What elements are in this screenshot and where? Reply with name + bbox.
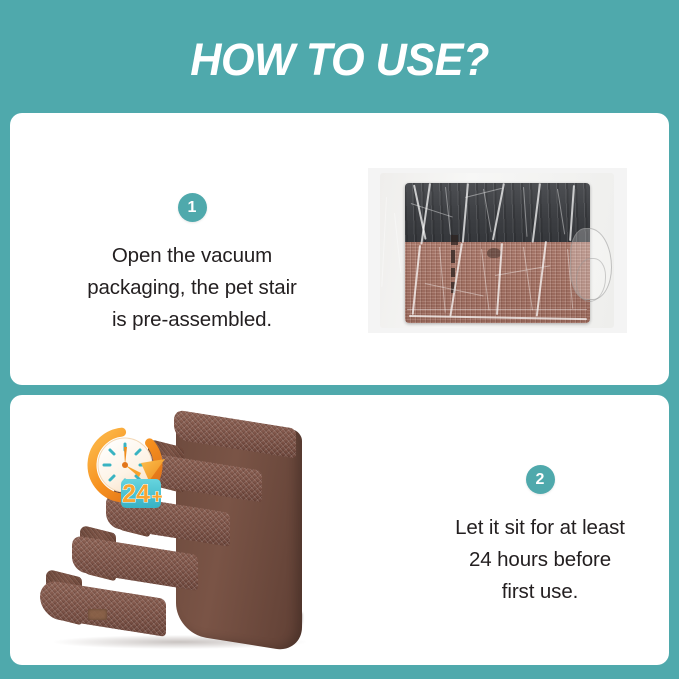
print-mark xyxy=(487,248,501,258)
how-to-use-infographic: HOW TO USE? 1 Open the vacuum packaging,… xyxy=(0,0,679,679)
header-banner: HOW TO USE? xyxy=(0,0,679,113)
step-2-text-block: 2 Let it sit for at least 24 hours befor… xyxy=(390,465,669,607)
step-2-number-badge: 2 xyxy=(526,465,555,494)
print-mark xyxy=(451,268,455,277)
page-title: HOW TO USE? xyxy=(190,37,489,82)
clock-badge-text: 24 xyxy=(122,480,150,508)
24-hours-clock-icon: 24 + xyxy=(83,423,175,515)
step-1-caption: Open the vacuum packaging, the pet stair… xyxy=(87,240,297,335)
clock-badge-plus: + xyxy=(151,487,162,508)
seam-mark xyxy=(451,235,458,245)
stair-tread-1 xyxy=(40,579,166,637)
compressed-pet-stair: ♻ xyxy=(405,183,590,323)
step-1-panel: 1 Open the vacuum packaging, the pet sta… xyxy=(10,113,669,385)
step-1-text-block: 1 Open the vacuum packaging, the pet sta… xyxy=(42,193,342,335)
print-mark xyxy=(451,250,455,263)
step-1-number-badge: 1 xyxy=(178,193,207,222)
vacuum-packaging-photo: ♻ xyxy=(368,168,627,333)
step-2-caption: Let it sit for at least 24 hours before … xyxy=(455,512,625,607)
pet-stair-photo: 24 + xyxy=(28,403,388,658)
step-2-panel: 24 + 2 Let it sit for at least 24 hours … xyxy=(10,395,669,665)
brand-tag xyxy=(88,609,107,620)
plastic-bag: ♻ xyxy=(380,173,614,328)
